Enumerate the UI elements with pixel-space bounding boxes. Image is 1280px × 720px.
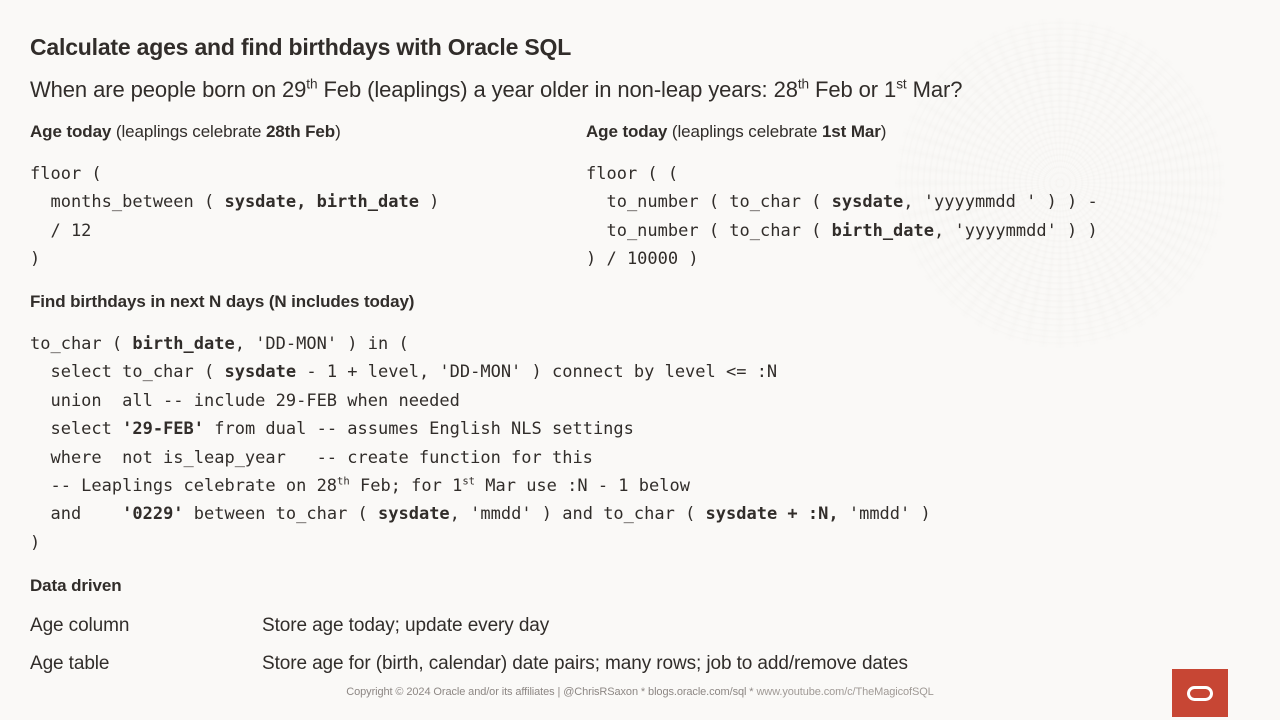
code-line: floor ( months_between ( sysdate, birth_…	[30, 164, 439, 269]
section-heading-data-driven: Data driven	[30, 576, 122, 596]
oracle-ring-icon	[1187, 686, 1213, 701]
page-title: Calculate ages and find birthdays with O…	[30, 34, 571, 61]
code-line: floor ( ( to_number ( to_char ( sysdate,…	[586, 164, 1098, 269]
subtitle-part-3: Feb or 1	[809, 77, 896, 102]
footer-youtube-link[interactable]: www.youtube.com/c/TheMagicofSQL	[756, 686, 933, 698]
section-heading-find-birthdays: Find birthdays in next N days (N include…	[30, 292, 414, 312]
row-label: Age table	[30, 653, 109, 675]
section-heading-age-today-mar: Age today (leaplings celebrate 1st Mar)	[586, 122, 886, 142]
age-right-heading-pre: (leaplings celebrate	[667, 122, 822, 141]
code-block-find-birthdays: to_char ( birth_date, 'DD-MON' ) in ( se…	[30, 330, 931, 557]
subtitle-part-2: Feb (leaplings) a year older in non-leap…	[317, 77, 797, 102]
subtitle-sup-1: th	[306, 77, 317, 92]
row-label: Age column	[30, 615, 129, 637]
code-line: to_char ( birth_date, 'DD-MON' ) in ( se…	[30, 334, 931, 553]
age-left-heading-bold: Age today	[30, 122, 111, 141]
section-heading-age-today-feb: Age today (leaplings celebrate 28th Feb)	[30, 122, 341, 142]
age-right-heading-bold: Age today	[586, 122, 667, 141]
page-subtitle: When are people born on 29th Feb (leapli…	[30, 77, 962, 103]
age-left-heading-pre: (leaplings celebrate	[111, 122, 266, 141]
row-value: Store age today; update every day	[262, 615, 549, 637]
footer-copyright-text: Copyright © 2024 Oracle and/or its affil…	[346, 686, 756, 698]
code-block-age-feb: floor ( months_between ( sysdate, birth_…	[30, 160, 439, 274]
subtitle-sup-2: th	[798, 77, 809, 92]
subtitle-part-4: Mar?	[907, 77, 963, 102]
table-row: Age column Store age today; update every…	[30, 615, 1230, 643]
age-left-heading-date: 28th Feb	[266, 122, 335, 141]
oracle-logo	[1172, 669, 1228, 717]
row-value: Store age for (birth, calendar) date pai…	[262, 653, 908, 675]
subtitle-sup-3: st	[896, 77, 906, 92]
age-right-heading-post: )	[881, 122, 887, 141]
table-row: Age table Store age for (birth, calendar…	[30, 653, 1230, 681]
subtitle-part-1: When are people born on 29	[30, 77, 306, 102]
code-block-age-mar: floor ( ( to_number ( to_char ( sysdate,…	[586, 160, 1098, 274]
footer-copyright: Copyright © 2024 Oracle and/or its affil…	[0, 686, 1280, 698]
age-left-heading-post: )	[335, 122, 341, 141]
age-right-heading-date: 1st Mar	[822, 122, 881, 141]
